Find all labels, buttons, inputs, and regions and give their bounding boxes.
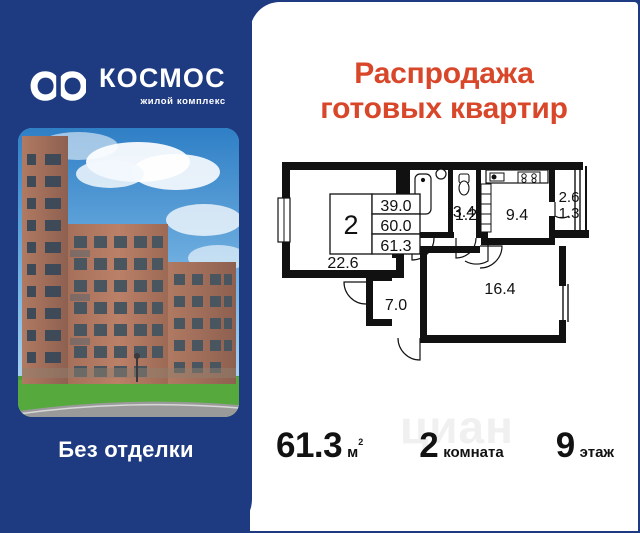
badge-living-label: 39.0 bbox=[380, 198, 411, 215]
stat-floor: 9 этаж bbox=[556, 426, 614, 466]
room-label-balcony-area: 2.6 bbox=[559, 189, 580, 206]
stat-floor-value: 9 bbox=[556, 426, 575, 466]
summary-stats: 61.3 м2 2 комната 9 этаж bbox=[250, 426, 638, 476]
room-label-hallway: 7.0 bbox=[385, 297, 407, 314]
stat-area-unit-sup: 2 bbox=[358, 437, 363, 447]
stat-rooms-value: 2 bbox=[419, 426, 438, 466]
headline-line-1: Распродажа bbox=[354, 57, 533, 90]
brand-logo: КОСМОС жилой комплекс bbox=[28, 58, 238, 114]
room-label-balcony-counted: 1.3 bbox=[559, 205, 580, 222]
stat-rooms-unit: комната bbox=[443, 444, 503, 461]
stat-area-value: 61.3 bbox=[276, 426, 342, 466]
floorplan: 2 39.0 60.0 61.3 22.6 3.4 1.2 9.4 2.6 1.… bbox=[270, 142, 638, 387]
page-title: Распродажа готовых квартир bbox=[250, 56, 638, 127]
room-label-kitchen: 9.4 bbox=[506, 207, 528, 224]
stat-floor-unit: этаж bbox=[580, 444, 614, 461]
stat-area: 61.3 м2 bbox=[276, 426, 363, 466]
room-label-bedroom: 16.4 bbox=[484, 281, 515, 298]
advertisement-card: КОСМОС жилой комплекс bbox=[0, 0, 640, 533]
room-label-living: 22.6 bbox=[327, 255, 358, 272]
infinity-icon bbox=[28, 68, 90, 104]
badge-rooms-label: 2 bbox=[343, 210, 358, 240]
offer-panel: Распродажа готовых квартир bbox=[250, 2, 638, 531]
finish-caption: Без отделки bbox=[0, 437, 252, 463]
headline-line-2: готовых квартир bbox=[250, 91, 638, 126]
brand-panel: КОСМОС жилой комплекс bbox=[0, 0, 252, 533]
building-photo bbox=[18, 128, 239, 417]
brand-name: КОСМОС bbox=[99, 65, 226, 92]
room-label-wc: 1.2 bbox=[455, 207, 477, 224]
stat-area-unit-text: м bbox=[347, 444, 358, 461]
stat-area-unit: м2 bbox=[347, 443, 363, 461]
badge-usable-label: 60.0 bbox=[380, 218, 411, 235]
brand-subtitle: жилой комплекс bbox=[99, 97, 226, 107]
stat-rooms: 2 комната bbox=[419, 426, 503, 466]
badge-total-label: 61.3 bbox=[380, 238, 411, 255]
